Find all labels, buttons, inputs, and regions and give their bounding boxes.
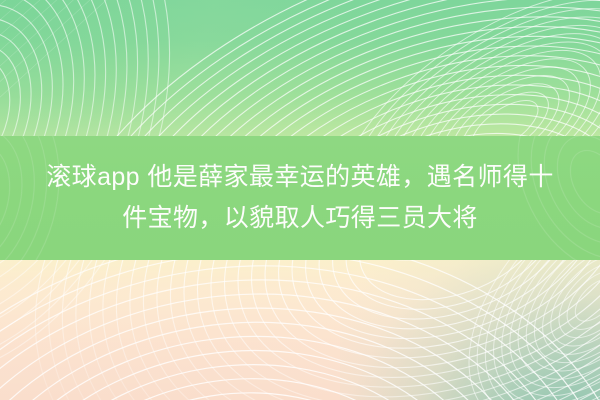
banner-text-line-2: 件宝物，以貌取人巧得三员大将 [122,198,478,239]
banner-image: 滚球app 他是薛家最幸运的英雄，遇名师得十 件宝物，以貌取人巧得三员大将 [0,0,600,400]
banner-text-block: 滚球app 他是薛家最幸运的英雄，遇名师得十 件宝物，以貌取人巧得三员大将 [0,136,600,260]
banner-text-line-1: 滚球app 他是薛家最幸运的英雄，遇名师得十 [46,157,553,198]
text-banner: 滚球app 他是薛家最幸运的英雄，遇名师得十 件宝物，以貌取人巧得三员大将 [0,136,600,260]
